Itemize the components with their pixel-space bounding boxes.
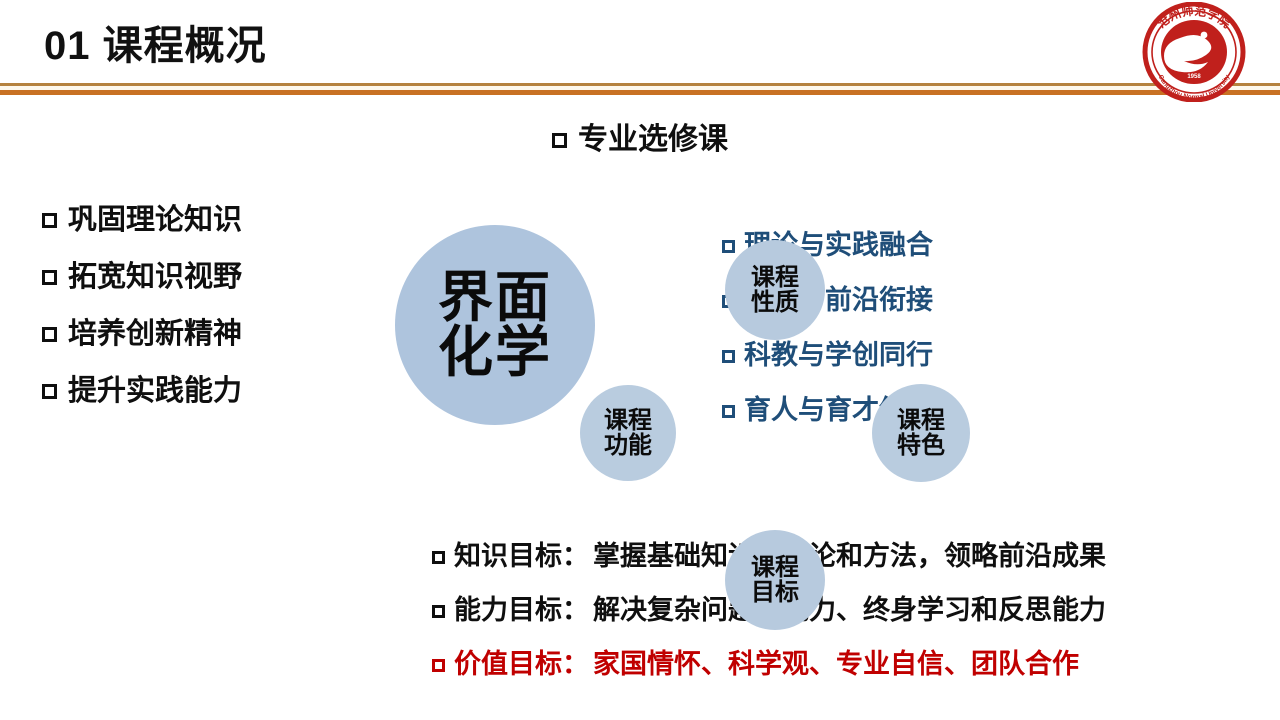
diagram-node-course-nature: 课程 性质 [725,240,825,340]
node-label-line2: 目标 [751,580,799,605]
list-item-label: 巩固理论知识 [68,204,242,236]
checkbox-bullet-icon [42,213,57,228]
university-seal-logo: 1958 沧州师范学院 Cangzhou Normal University [1133,2,1255,102]
checkbox-bullet-icon [722,405,735,418]
node-label-line1: 课程 [751,265,799,290]
node-label-line1: 课程 [897,408,945,433]
checkbox-bullet-icon [432,659,445,672]
slide-canvas: 01 课程概况 1958 沧州师范学院 Cangzhou Normal Univ… [0,0,1280,720]
diagram-node-course-function: 课程 功能 [580,385,676,481]
goal-row-value: 价值目标：家国情怀、科学观、专业自信、团队合作 [432,651,1262,678]
checkbox-bullet-icon [42,384,57,399]
node-label-line2: 性质 [751,290,799,315]
checkbox-bullet-icon [42,270,57,285]
checkbox-bullet-icon [42,327,57,342]
seal-year: 1958 [1187,74,1201,80]
checkbox-bullet-icon [552,133,567,148]
header-rule-thick [0,90,1280,95]
list-item: 科教与学创同行 [722,342,1042,369]
goal-lead: 知识目标： [454,541,589,571]
list-item-label: 提升实践能力 [68,375,242,407]
goal-body: 掌握基础知识、理论和方法，领略前沿成果 [593,541,1106,571]
goal-body: 解决复杂问题的能力、终身学习和反思能力 [593,595,1106,625]
goal-row-ability: 能力目标：解决复杂问题的能力、终身学习和反思能力 [432,597,1262,624]
diagram-node-course-features: 课程 特色 [872,384,970,482]
goal-row-knowledge: 知识目标：掌握基础知识、理论和方法，领略前沿成果 [432,543,1262,570]
goal-lead: 能力目标： [454,595,589,625]
list-item-label: 拓宽知识视野 [68,261,242,293]
list-item-label: 科教与学创同行 [744,340,933,370]
checkbox-bullet-icon [432,551,445,564]
goal-body: 家国情怀、科学观、专业自信、团队合作 [593,649,1079,679]
node-label-line2: 功能 [604,433,652,458]
center-label-line2: 化学 [438,325,552,380]
course-overview-diagram: 课程 性质 课程 目标 界面 化学 课程 功能 课程 特色 [280,110,720,530]
checkbox-bullet-icon [722,350,735,363]
elective-label: 专业选修课 [578,123,728,156]
diagram-node-center-interface-chemistry: 界面 化学 [395,225,595,425]
list-item-label: 培养创新精神 [68,318,242,350]
checkbox-bullet-icon [722,240,735,253]
page-title: 01 课程概况 [44,24,267,68]
node-label-line2: 特色 [897,433,945,458]
node-label-line1: 课程 [751,555,799,580]
checkbox-bullet-icon [432,605,445,618]
elective-callout: 专业选修课 [552,114,728,158]
goal-lead: 价值目标： [454,649,589,679]
node-label-line1: 课程 [604,408,652,433]
center-label-line1: 界面 [438,270,552,325]
diagram-node-course-goals: 课程 目标 [725,530,825,630]
course-goals-list: 知识目标：掌握基础知识、理论和方法，领略前沿成果 能力目标：解决复杂问题的能力、… [432,543,1262,705]
